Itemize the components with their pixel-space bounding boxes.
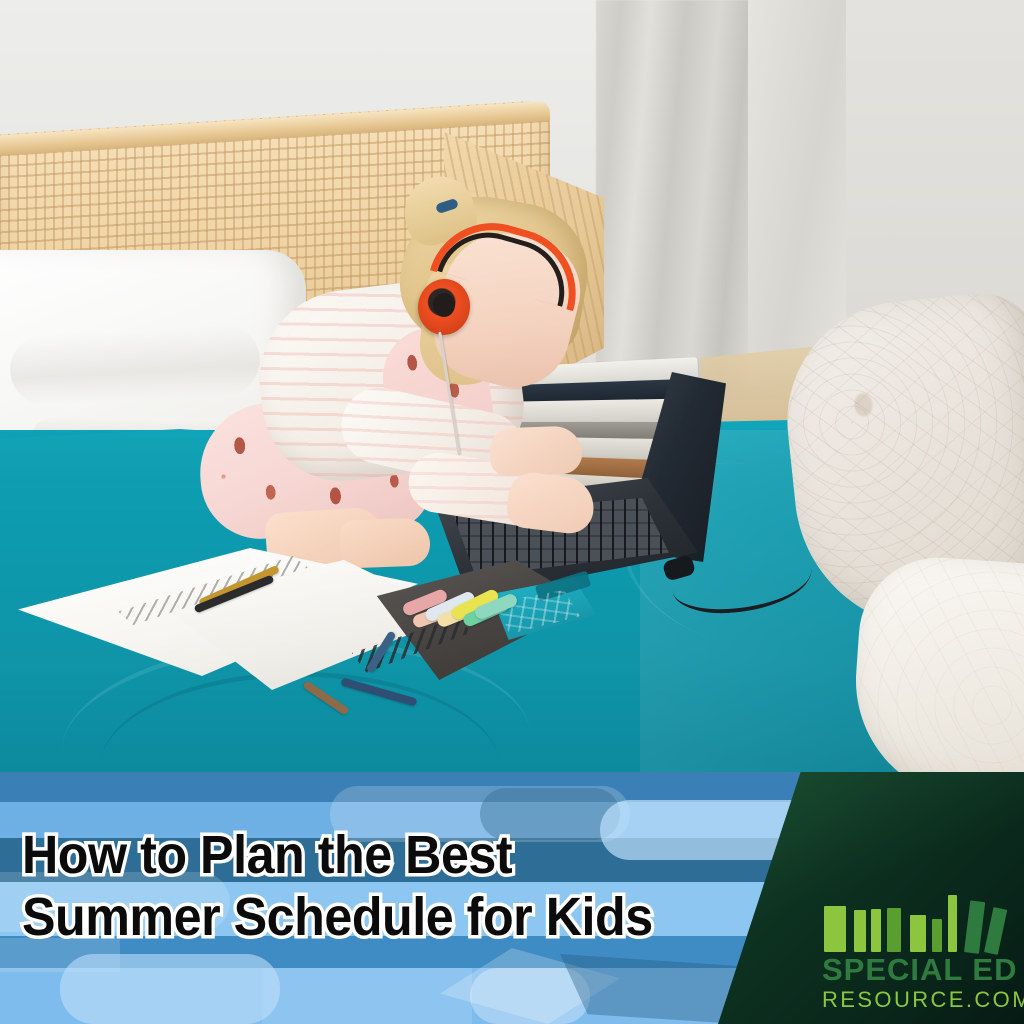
screenshot-canvas: How to Plan the Best Summer Schedule for… [0,0,1024,1024]
headphones-earcup-center [433,293,455,317]
logo-book-spine [984,907,1007,955]
logo-book-spine [932,919,942,952]
logo-book-spine [948,895,957,952]
floral-duvet-fold [848,552,1024,807]
banner-shape [262,968,472,1024]
banner-headline: How to Plan the Best Summer Schedule for… [22,824,812,948]
site-logo[interactable]: SPECIAL ED RESOURCE.COM [808,892,1022,1018]
logo-book-spine [824,906,846,952]
headline-line-2: Summer Schedule for Kids [22,886,757,948]
duvet-floral-pattern [848,552,1024,807]
banner-shape [60,954,280,1024]
logo-book-spine [871,909,881,952]
logo-book-spine [887,908,901,952]
logo-name-primary: SPECIAL ED [822,954,1022,985]
logo-book-spines-icon [824,892,1004,952]
logo-book-spine [964,900,985,953]
logo-book-spine [854,910,866,952]
child-hand [489,425,583,476]
child-hand-typing [505,470,597,536]
headline-line-1: How to Plan the Best [22,824,757,886]
child-figure [190,175,610,595]
logo-book-spine [910,915,926,952]
bare-foot [339,517,431,568]
logo-name-domain: RESOURCE.COM [822,989,1022,1011]
